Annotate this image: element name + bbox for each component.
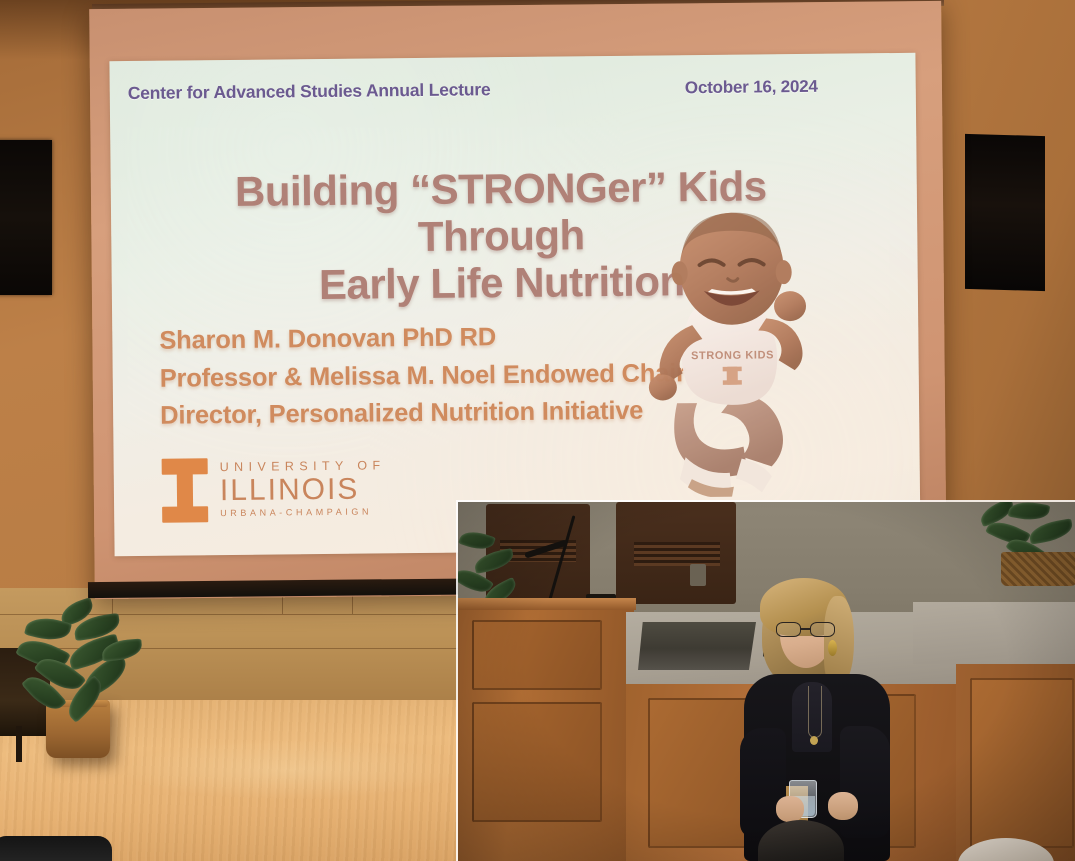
slide-header-left: Center for Advanced Studies Annual Lectu… [128, 79, 491, 104]
inset-chair-right-slats [634, 542, 720, 566]
presentation-slide: Center for Advanced Studies Annual Lectu… [109, 53, 920, 556]
block-i-logo-icon [162, 458, 209, 522]
wicker-basket [1001, 552, 1075, 586]
presenter-name: Sharon M. Donovan PhD RD [159, 317, 685, 360]
speaker-hand-right [828, 792, 858, 820]
slide-header-date: October 16, 2024 [685, 77, 818, 98]
slide-header: Center for Advanced Studies Annual Lectu… [128, 75, 896, 104]
wall-panel-right [965, 134, 1045, 291]
necklace [808, 686, 822, 738]
logo-wordmark: UNIVERSITY OF ILLINOIS URBANA-CHAMPAIGN [220, 460, 386, 519]
podium-panel-lower [472, 702, 602, 822]
speaker-video-inset [458, 502, 1075, 861]
wall-panel-left [0, 140, 52, 295]
screenshot-root: Center for Advanced Studies Annual Lectu… [0, 0, 1075, 861]
speaker-arm-right [840, 726, 890, 838]
necklace-pendant [810, 736, 818, 745]
inset-wall-outlet [690, 564, 706, 586]
presenter-affiliation: Director, Personalized Nutrition Initiat… [160, 393, 686, 436]
speaker-hand-left [776, 796, 804, 822]
svg-text:STRONG KIDS: STRONG KIDS [691, 349, 774, 362]
university-logo: UNIVERSITY OF ILLINOIS URBANA-CHAMPAIGN [162, 456, 386, 522]
speaker-arm-left [740, 728, 786, 838]
gold-earring [828, 640, 837, 656]
logo-line-campus: URBANA-CHAMPAIGN [220, 507, 386, 519]
smiling-baby-photo: STRONG KIDS [631, 206, 834, 498]
floor-light-reflection [120, 740, 460, 800]
potted-plant [16, 600, 156, 715]
eyeglasses [776, 622, 836, 637]
cabinet-panel-3 [970, 678, 1074, 848]
foreground-chair [0, 836, 112, 861]
inset-potted-plant [458, 528, 528, 608]
speaker-hair-side [824, 596, 854, 686]
stage-chair-leg [16, 726, 22, 762]
presenter-title: Professor & Melissa M. Noel Endowed Chai… [160, 355, 686, 398]
podium-panel-upper [472, 620, 602, 690]
logo-line-illinois: ILLINOIS [220, 474, 386, 506]
presenter-info: Sharon M. Donovan PhD RD Professor & Mel… [159, 317, 686, 436]
counter-right [913, 602, 1075, 664]
speaker-figure [736, 578, 896, 861]
podium-left-top [458, 598, 636, 610]
baby-illustration: STRONG KIDS [631, 206, 834, 498]
